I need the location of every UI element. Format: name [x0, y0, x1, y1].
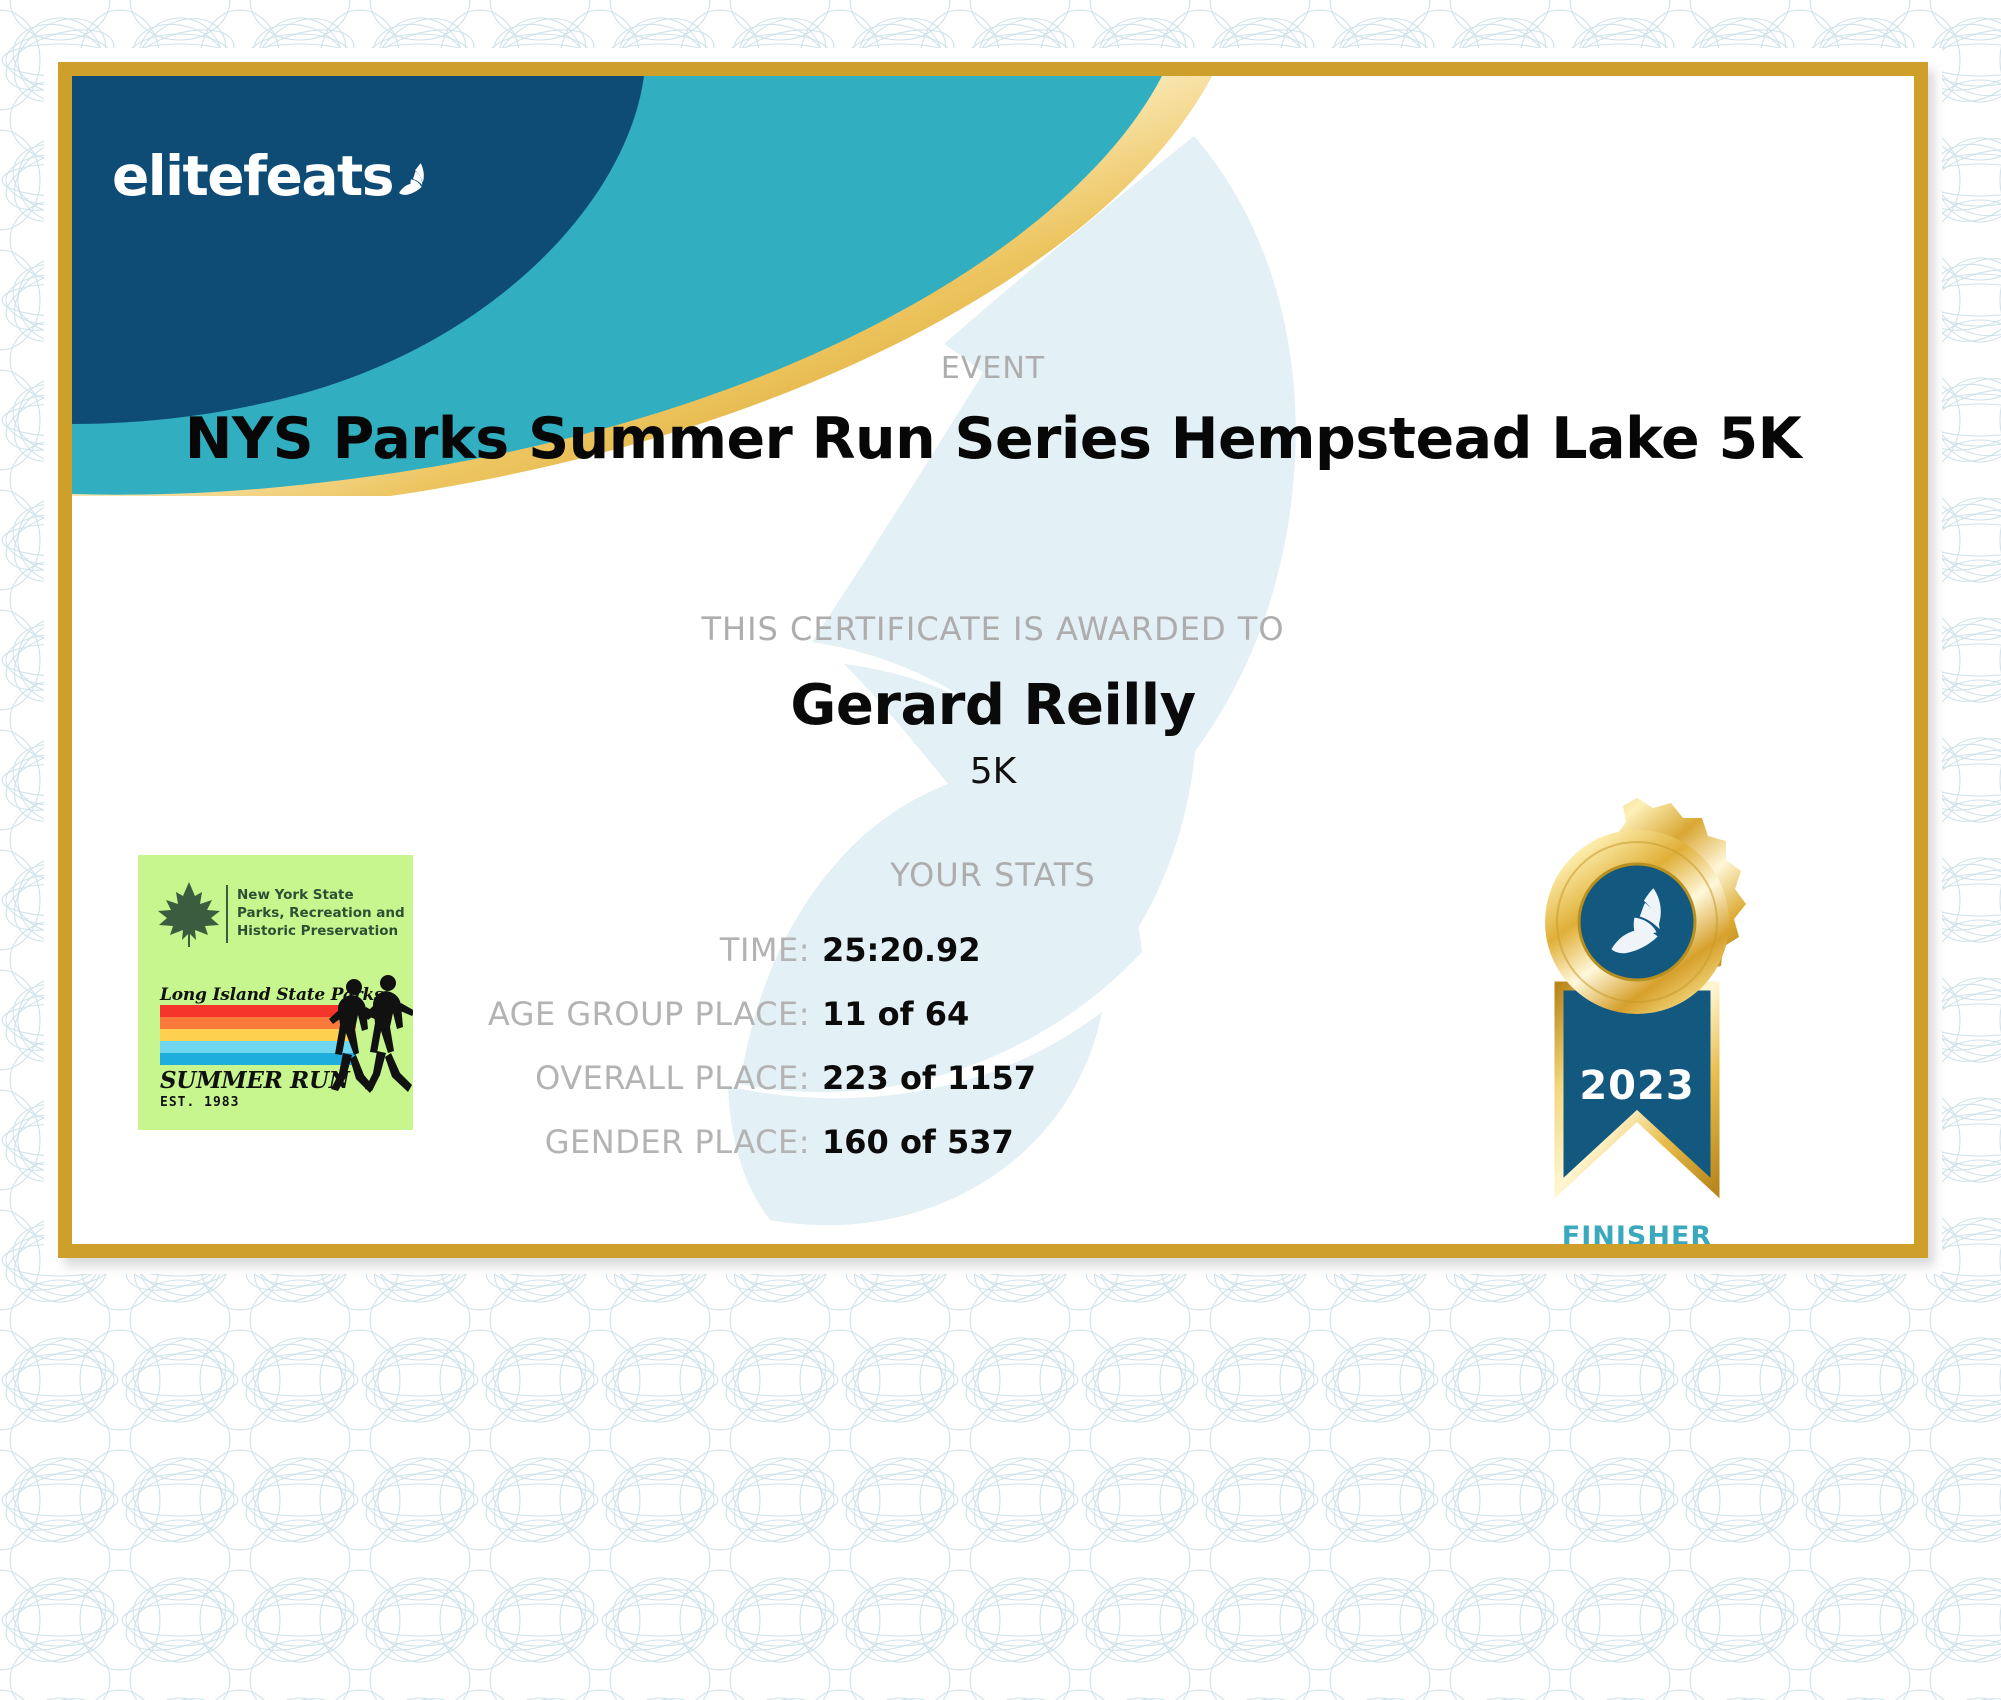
finisher-caption-line-1: FINISHER [1472, 1222, 1802, 1252]
certificate-frame: elitefeats EVENT NYS Parks Summer Run Se… [58, 62, 1928, 1258]
logo-divider [226, 885, 228, 943]
agency-name: New York State Parks, Recreation and His… [237, 887, 405, 940]
recipient-division: 5K [72, 751, 1914, 792]
stat-value: 25:20.92 [810, 931, 1072, 969]
stats-table: TIME: 25:20.92 AGE GROUP PLACE: 11 of 64… [372, 931, 1072, 1187]
stat-row-gender-place: GENDER PLACE: 160 of 537 [372, 1123, 1072, 1161]
event-kicker-label: EVENT [72, 351, 1914, 386]
stat-label: GENDER PLACE: [372, 1123, 810, 1161]
stat-value: 160 of 537 [810, 1123, 1072, 1161]
finisher-caption-line-2: CERTIFICATE [1472, 1252, 1802, 1258]
sponsor-logo: New York State Parks, Recreation and His… [138, 855, 413, 1130]
awarded-to-label: THIS CERTIFICATE IS AWARDED TO [72, 610, 1914, 648]
recipient-name: Gerard Reilly [72, 673, 1914, 738]
stat-label: TIME: [372, 931, 810, 969]
medal-ribbon-icon: 2023 [1487, 796, 1787, 1216]
agency-line-1: New York State [237, 887, 405, 905]
winged-foot-icon [395, 146, 432, 212]
finisher-caption: FINISHER CERTIFICATE [1472, 1222, 1802, 1258]
stat-row-overall-place: OVERALL PLACE: 223 of 1157 [372, 1059, 1072, 1097]
stat-value: 11 of 64 [810, 995, 1072, 1033]
stat-label: OVERALL PLACE: [372, 1059, 810, 1097]
agency-line-2: Parks, Recreation and [237, 905, 405, 923]
stat-label: AGE GROUP PLACE: [372, 995, 810, 1033]
medal-year: 2023 [1579, 1063, 1694, 1109]
agency-line-3: Historic Preservation [237, 923, 405, 941]
elitefeats-logo: elitefeats [112, 136, 432, 216]
stat-row-time: TIME: 25:20.92 [372, 931, 1072, 969]
maple-leaf-icon [156, 880, 222, 948]
finisher-medal: 2023 FINISHER CERTIFICATE [1472, 796, 1802, 1258]
nys-parks-lockup: New York State Parks, Recreation and His… [156, 875, 406, 953]
runners-silhouette-icon [324, 973, 413, 1103]
stat-value: 223 of 1157 [810, 1059, 1072, 1097]
event-title: NYS Parks Summer Run Series Hempstead La… [72, 406, 1914, 472]
brand-wordmark: elitefeats [112, 144, 393, 208]
stat-row-age-group-place: AGE GROUP PLACE: 11 of 64 [372, 995, 1072, 1033]
